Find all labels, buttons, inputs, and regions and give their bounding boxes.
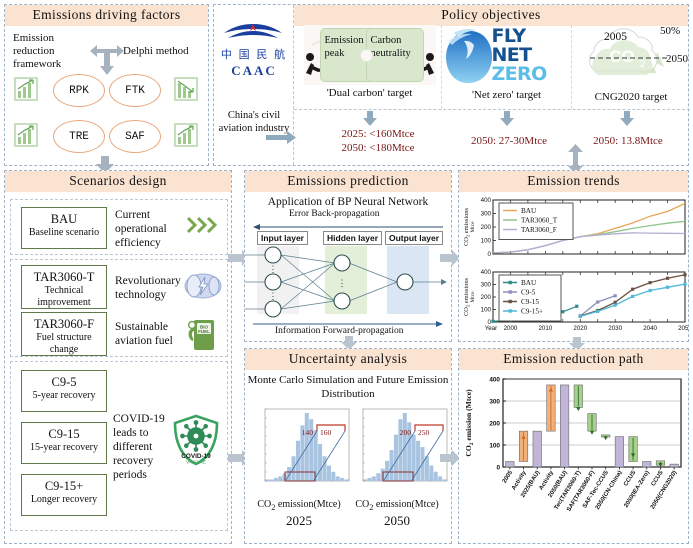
nn-node-hidden-2 [334, 293, 350, 309]
svg-text:400: 400 [481, 269, 492, 276]
scenario-code-bau: BAU [22, 212, 106, 227]
panel-title-emission-trends: Emission trends [459, 171, 688, 192]
histogram-year-2025: 2025 [249, 513, 349, 529]
svg-text:160: 160 [320, 428, 332, 437]
scenario-desc-tar3060-f: Sustainable aviation fuel [115, 320, 185, 348]
histogram-2050: 200250 [349, 405, 449, 497]
nn-node-input-2 [265, 274, 281, 290]
svg-text:TAR3060_T: TAR3060_T [521, 217, 558, 225]
fly-net-zero-text: FLY NET ZERO [492, 27, 547, 84]
panel-title-scenarios-design: Scenarios design [5, 171, 231, 192]
emission-trends-charts: 0100200300400CO2 emissionsMtceBAUTAR3060… [459, 192, 688, 340]
svg-text:200: 200 [481, 294, 492, 301]
fnz-line-zero: ZERO [492, 65, 547, 84]
target-dual-carbon-2050: 2050: <180Mtce [332, 141, 424, 155]
scenario-desc-tar3060-t: Revolutionary technology [115, 274, 183, 302]
scenario-group-bau: BAU Baseline scenario Current operationa… [10, 199, 228, 255]
scenario-code-c9-5: C9-5 [22, 375, 106, 390]
caac-logo: 中 国 民 航 CAAC [220, 21, 288, 79]
factor-oval-ftk[interactable]: FTK [109, 74, 161, 107]
scenario-box-c9-15plus[interactable]: C9-15+ Longer recovery [21, 474, 107, 516]
svg-text:Year: Year [485, 325, 498, 332]
svg-text:2030: 2030 [608, 325, 622, 332]
scenario-code-c9-15plus: C9-15+ [22, 479, 106, 494]
chart-emission-reduction-path: 01002003004002005Activity2025(BAU)Activi… [459, 371, 688, 543]
svg-text:2050: 2050 [678, 325, 688, 332]
scenario-desc-bau: Current operational efficiency [115, 208, 181, 250]
scenario-box-c9-15[interactable]: C9-15 15-year recovery [21, 422, 107, 464]
scenario-sub-c9-15: 15-year recovery [22, 442, 106, 454]
target-dual-carbon: 2025: <160Mtce 2050: <180Mtce [332, 127, 424, 155]
panel-title-emission-reduction-path: Emission reduction path [459, 349, 688, 370]
dual-carbon-caption: 'Dual carbon' target [298, 87, 441, 99]
svg-text:400: 400 [489, 376, 500, 383]
svg-text:100: 100 [481, 238, 492, 245]
bp-network-diagram: Error Back-propagation Input layer Hidde… [245, 208, 451, 338]
wave-globe-icon [444, 25, 496, 87]
scenario-code-c9-15: C9-15 [22, 427, 106, 442]
factor-oval-tre[interactable]: TRE [53, 120, 105, 153]
bar-chart-up-icon [13, 122, 39, 148]
panel-uncertainty-analysis: Uncertainty analysis Monte Carlo Simulat… [244, 348, 452, 544]
factor-oval-rpk[interactable]: RPK [53, 74, 105, 107]
monte-carlo-subtitle: Monte Carlo Simulation and Future Emissi… [245, 374, 451, 401]
cng2020-caption: CNG2020 target [572, 91, 690, 103]
bp-network-graph: ⋮ ⋮ ⋮ [245, 246, 453, 318]
panel-title-emissions-prediction: Emissions prediction [245, 171, 451, 192]
layer-label-output: Output layer [385, 231, 443, 245]
arrow-down-dual-carbon-icon [362, 111, 378, 126]
svg-text:CCUS: CCUS [623, 470, 637, 488]
svg-text:⋮: ⋮ [269, 264, 278, 274]
svg-text:BAU: BAU [521, 207, 537, 215]
scenario-sub-c9-5: 5-year recovery [22, 390, 106, 402]
chart-emission-trends-covid: 0100200300400200020102020203020402050Yea… [459, 266, 688, 340]
svg-text:BAU: BAU [521, 279, 537, 287]
bar-chart-up-icon [13, 76, 39, 102]
svg-text:0: 0 [488, 251, 492, 258]
svg-text:2040: 2040 [643, 325, 657, 332]
layer-label-hidden: Hidden layer [323, 231, 382, 245]
scenario-sub-bau: Baseline scenario [22, 227, 106, 239]
svg-text:CO2 emission (Mtce): CO2 emission (Mtce) [464, 389, 475, 457]
svg-text:100: 100 [481, 307, 492, 314]
panel-scenarios-design: Scenarios design BAU Baseline scenario C… [4, 170, 232, 544]
bar-chart-down-icon [173, 76, 199, 102]
svg-text:200: 200 [400, 428, 412, 437]
caac-chinese-label: 中 国 民 航 [220, 47, 288, 63]
scenario-group-covid: C9-5 5-year recovery C9-15 15-year recov… [10, 361, 228, 531]
scenario-sub-tar3060-t: Technical improvement [22, 285, 106, 309]
bar-chart-up-icon [173, 122, 199, 148]
scenario-code-tar3060-t: TAR3060-T [22, 270, 106, 285]
covid-vaccine-shield-icon: COVID-19 VACCINE [171, 414, 221, 472]
svg-text:2020: 2020 [573, 325, 587, 332]
target-net-zero: 2050: 27-30Mtce [454, 134, 564, 148]
policy-column-cng2020: CO 2 2005 50% 2050 CNG2020 target [572, 25, 690, 109]
cloud-year-2050: 2050 [666, 53, 688, 65]
arrow-left-backprop-icon [253, 223, 443, 231]
cng2020-cloud-icon: CO 2 2005 50% 2050 [572, 25, 693, 89]
svg-text:CCUS: CCUS [651, 470, 665, 488]
emission-reduction-framework-label: Emission reduction framework [13, 32, 91, 71]
svg-text:2005: 2005 [502, 469, 515, 484]
svg-text:CO: CO [609, 47, 635, 66]
histogram-year-2050: 2050 [347, 513, 447, 529]
panel-emission-trends: Emission trends 0100200300400CO2 emissio… [458, 170, 689, 342]
panel-emissions-prediction: Emissions prediction Application of BP N… [244, 170, 452, 342]
svg-text:300: 300 [481, 282, 492, 289]
cloud-pct-50: 50% [660, 25, 680, 37]
nn-node-input-1 [265, 247, 281, 263]
target-dual-carbon-2025: 2025: <160Mtce [332, 127, 424, 141]
panel-emissions-driving-factors: Emissions driving factors Emission reduc… [4, 4, 209, 166]
svg-text:C9-15: C9-15 [521, 298, 539, 306]
histogram-caption-2025: CO2 emission(Mtce) [249, 499, 349, 512]
caac-wings-icon [220, 21, 286, 47]
covid-icon-sublabel: VACCINE [186, 460, 206, 465]
policy-column-dual-carbon: Emission peak Carbon neutrality 'Dual ca… [298, 25, 442, 109]
panel-policy-objectives: Policy objectives 中 国 民 航 CAAC China's c… [213, 4, 689, 166]
svg-text:C9-5: C9-5 [521, 289, 536, 297]
svg-text:300: 300 [481, 211, 492, 218]
target-cng2020-2050: 2050: 13.8Mtce [574, 134, 682, 148]
svg-text:Mtce: Mtce [470, 291, 476, 303]
svg-text:FUEL: FUEL [198, 329, 210, 334]
cloud-year-2005: 2005 [604, 31, 627, 43]
svg-text:⋮: ⋮ [338, 278, 347, 288]
layer-label-input: Input layer [257, 231, 308, 245]
svg-text:400: 400 [481, 197, 492, 204]
scenario-box-bau[interactable]: BAU Baseline scenario [21, 207, 107, 249]
scenario-code-tar3060-f: TAR3060-F [22, 317, 106, 332]
svg-text:2050(CNG2020): 2050(CNG2020) [650, 470, 678, 511]
svg-text:⋮: ⋮ [269, 291, 278, 301]
svg-text:140: 140 [302, 428, 314, 437]
svg-text:0: 0 [496, 464, 500, 471]
scenario-box-c9-5[interactable]: C9-5 5-year recovery [21, 370, 107, 412]
svg-text:100: 100 [489, 442, 500, 449]
arrow-down-cng2020-icon [619, 111, 635, 126]
factor-oval-saf[interactable]: SAF [109, 120, 161, 153]
arrow-right-uncertainty-to-path-icon [440, 450, 460, 466]
target-net-zero-2050: 2050: 27-30Mtce [454, 134, 564, 148]
puzzle-piece-carbon-neutrality: Carbon neutrality [366, 28, 424, 82]
panel-title-driving-factors: Emissions driving factors [5, 5, 208, 26]
svg-text:2010: 2010 [538, 325, 552, 332]
dual-carbon-puzzle-icon: Emission peak Carbon neutrality [304, 25, 436, 85]
scenario-desc-covid: COVID-19 leads to different recovery per… [113, 412, 171, 482]
bidirectional-arrow-icon [89, 44, 125, 76]
fly-net-zero-logo: FLY NET ZERO [444, 25, 570, 87]
panel-title-policy-objectives: Policy objectives [294, 5, 688, 26]
nn-node-hidden-1 [334, 255, 350, 271]
histogram-caption-2050: CO2 emission(Mtce) [347, 499, 447, 512]
svg-text:2: 2 [640, 59, 646, 70]
chart-emission-trends-scenarios: 0100200300400CO2 emissionsMtceBAUTAR3060… [459, 194, 688, 268]
svg-text:200: 200 [481, 224, 492, 231]
svg-text:TAR3060_F: TAR3060_F [521, 226, 557, 234]
svg-text:300: 300 [489, 398, 500, 405]
error-back-propagation-label: Error Back-propagation [289, 209, 379, 219]
information-forward-propagation-label: Information Forward-propagation [275, 326, 403, 336]
scenario-sub-c9-15plus: Longer recovery [22, 494, 106, 506]
nn-node-input-3 [265, 301, 281, 317]
policy-column-net-zero: FLY NET ZERO 'Net zero' target [442, 25, 572, 109]
scenario-box-tar3060-t[interactable]: TAR3060-T Technical improvement [21, 265, 107, 309]
nn-node-output-1 [397, 274, 413, 290]
driving-factors-body: Emission reduction framework Delphi meth… [5, 26, 208, 164]
engine-icon [183, 272, 223, 300]
svg-text:Mtce: Mtce [470, 221, 476, 233]
arrow-right-prediction-to-trends-icon [440, 250, 460, 266]
arrow-right-industry-icon [266, 131, 296, 144]
target-cng2020: 2050: 13.8Mtce [574, 134, 682, 148]
svg-text:2000: 2000 [504, 325, 518, 332]
arrow-down-net-zero-icon [499, 111, 515, 126]
scenario-sub-tar3060-f: Fuel structure change [22, 332, 106, 356]
svg-text:250: 250 [418, 428, 430, 437]
net-zero-caption: 'Net zero' target [442, 89, 571, 101]
panel-title-uncertainty-analysis: Uncertainty analysis [245, 349, 451, 370]
policy-divider [294, 109, 690, 110]
svg-text:200: 200 [489, 420, 500, 427]
svg-text:C9-15+: C9-15+ [521, 308, 543, 316]
biofuel-pump-icon: BIO FUEL [185, 316, 223, 352]
caac-english-label: CAAC [220, 63, 288, 79]
bp-network-subtitle: Application of BP Neural Network [245, 196, 451, 208]
panel-emission-reduction-path: Emission reduction path 0100200300400200… [458, 348, 689, 544]
svg-text:2050(CN-China): 2050(CN-China) [595, 470, 624, 511]
scenario-box-tar3060-f[interactable]: TAR3060-F Fuel structure change [21, 312, 107, 356]
chevrons-right-icon [187, 216, 221, 234]
histogram-2025: 140160 [251, 405, 351, 497]
uncertainty-histograms: 140160 200250 CO2 emission(Mtce) CO2 emi… [245, 401, 451, 541]
scenario-group-tar3060: TAR3060-T Technical improvement Revoluti… [10, 259, 228, 357]
delphi-method-label: Delphi method [123, 45, 207, 58]
